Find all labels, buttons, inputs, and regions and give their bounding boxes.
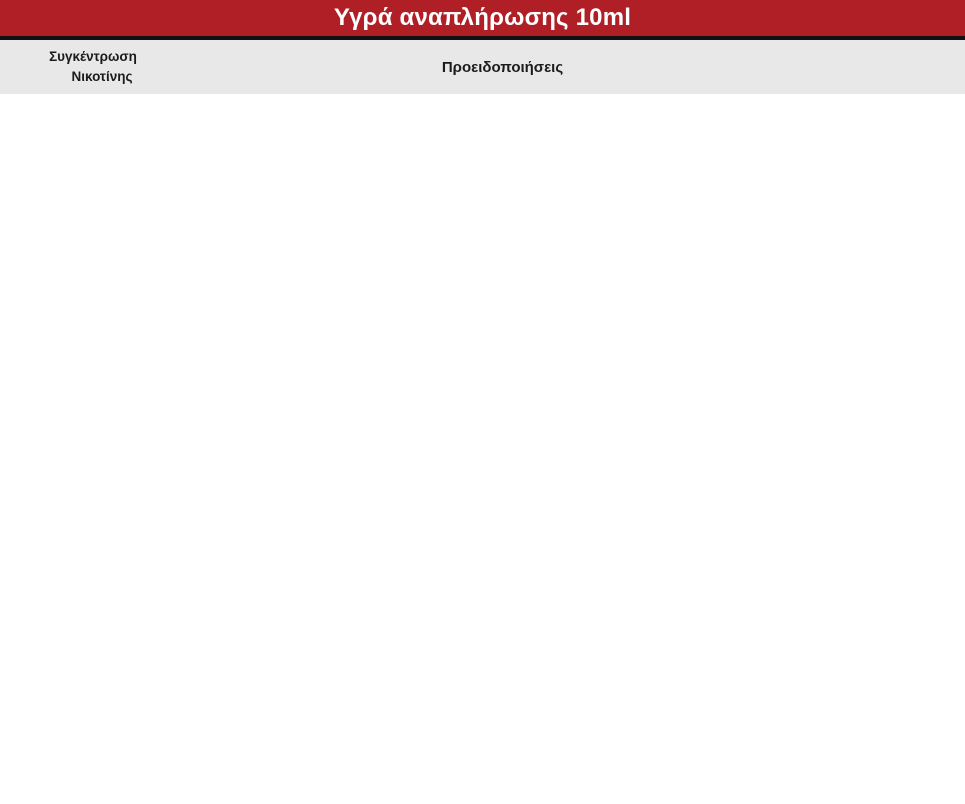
table-column-header: Συγκέντρωση Νικοτίνης Προειδοποιήσεις — [0, 40, 965, 94]
page-title: Υγρά αναπλήρωσης 10ml — [334, 6, 631, 30]
column-header-concentration-line1: Συγκέντρωση — [49, 49, 137, 64]
page-title-bar: Υγρά αναπλήρωσης 10ml — [0, 0, 965, 36]
header-body-divider — [0, 94, 965, 102]
column-header-concentration: Συγκέντρωση Νικοτίνης — [0, 47, 180, 86]
column-header-warnings: Προειδοποιήσεις — [180, 59, 965, 76]
column-header-concentration-line2: Νικοτίνης — [6, 67, 180, 87]
nicotine-warning-table-page: Υγρά αναπλήρωσης 10ml Συγκέντρωση Νικοτί… — [0, 0, 965, 804]
